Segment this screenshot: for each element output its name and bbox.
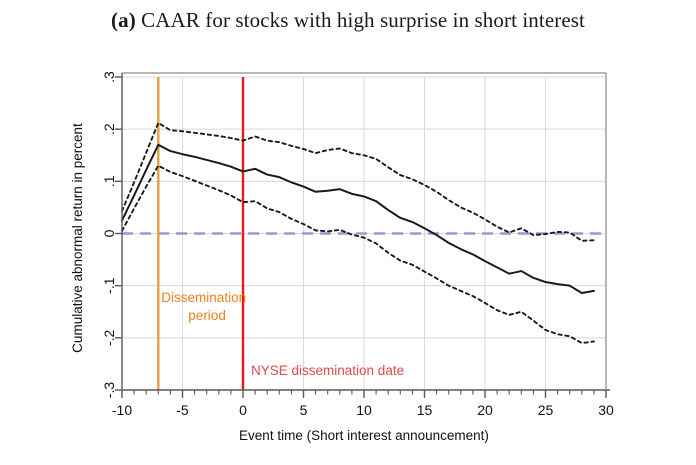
chart-svg: .3.2.10-.1-.2-.3-10-5051015202530 Dissem… xyxy=(0,0,696,465)
dissemination-period-label-line2: period xyxy=(188,308,226,323)
series-line-0 xyxy=(122,145,594,293)
x-tick-label: 30 xyxy=(598,402,614,418)
y-axis-title: Cumulative abnormal return in percent xyxy=(70,123,85,353)
nyse-dissemination-date-label: NYSE dissemination date xyxy=(251,363,404,378)
x-tick-label: 20 xyxy=(477,402,493,418)
x-axis-title: Event time (Short interest announcement) xyxy=(239,428,489,443)
axes xyxy=(115,73,610,398)
y-tick-label: 0 xyxy=(101,229,117,237)
dissemination-period-label: Dissemination xyxy=(161,290,246,305)
x-tick-label: 25 xyxy=(538,402,554,418)
y-tick-label: .2 xyxy=(101,123,117,135)
chart-plot: .3.2.10-.1-.2-.3-10-5051015202530 Dissem… xyxy=(0,0,696,465)
series-line-1 xyxy=(122,123,594,241)
x-tick-label: 5 xyxy=(300,402,308,418)
figure-panel: (a) CAAR for stocks with high surprise i… xyxy=(0,0,696,465)
y-tick-label: .1 xyxy=(101,175,117,187)
x-tick-label: -5 xyxy=(176,402,189,418)
x-tick-label: 0 xyxy=(239,402,247,418)
x-tick-label: 10 xyxy=(356,402,372,418)
chart-annotations: DisseminationperiodNYSE dissemination da… xyxy=(161,290,404,378)
y-tick-label: .3 xyxy=(101,71,117,83)
x-tick-label: 15 xyxy=(417,402,433,418)
y-tick-label: -.1 xyxy=(101,277,117,294)
x-tick-label: -10 xyxy=(112,402,132,418)
y-tick-label: -.3 xyxy=(101,382,117,399)
y-tick-label: -.2 xyxy=(101,329,117,346)
